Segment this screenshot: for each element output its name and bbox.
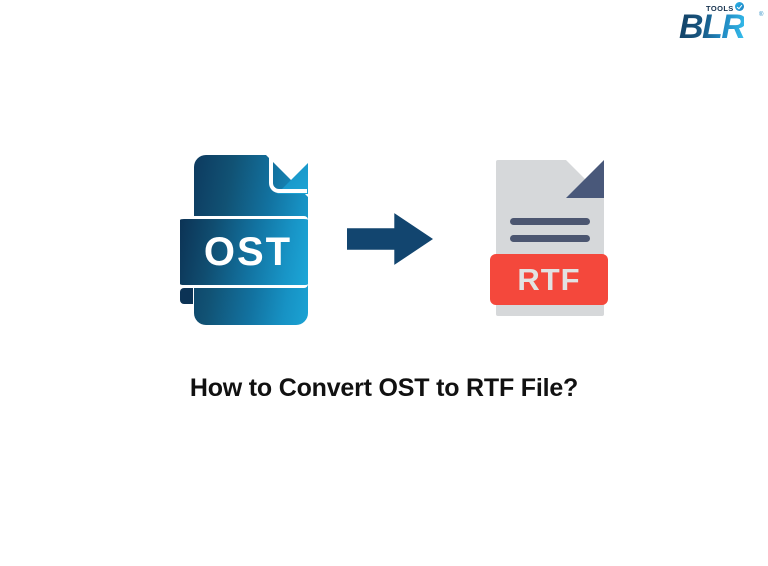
rtf-file-icon: RTF [490, 156, 610, 320]
ost-extension-label: OST [196, 232, 292, 272]
page-root: TOOLS BLR ® OST RTF How to Convert OST t [0, 0, 768, 566]
page-title: How to Convert OST to RTF File? [0, 373, 768, 403]
ost-extension-band: OST [180, 216, 308, 288]
ost-file-icon: OST [180, 152, 312, 328]
ost-side-notch [180, 288, 193, 304]
brand-logo[interactable]: TOOLS BLR ® [679, 2, 765, 50]
rtf-extension-label: RTF [517, 264, 580, 295]
arrow-right-shape [347, 212, 433, 266]
rtf-text-line [510, 235, 590, 242]
registered-mark: ® [759, 12, 763, 18]
rtf-text-line [510, 218, 590, 225]
brand-name: BLR [679, 10, 744, 44]
rtf-extension-band: RTF [490, 254, 608, 305]
arrow-right-icon [347, 212, 433, 266]
ost-folded-corner-edge [266, 152, 311, 197]
